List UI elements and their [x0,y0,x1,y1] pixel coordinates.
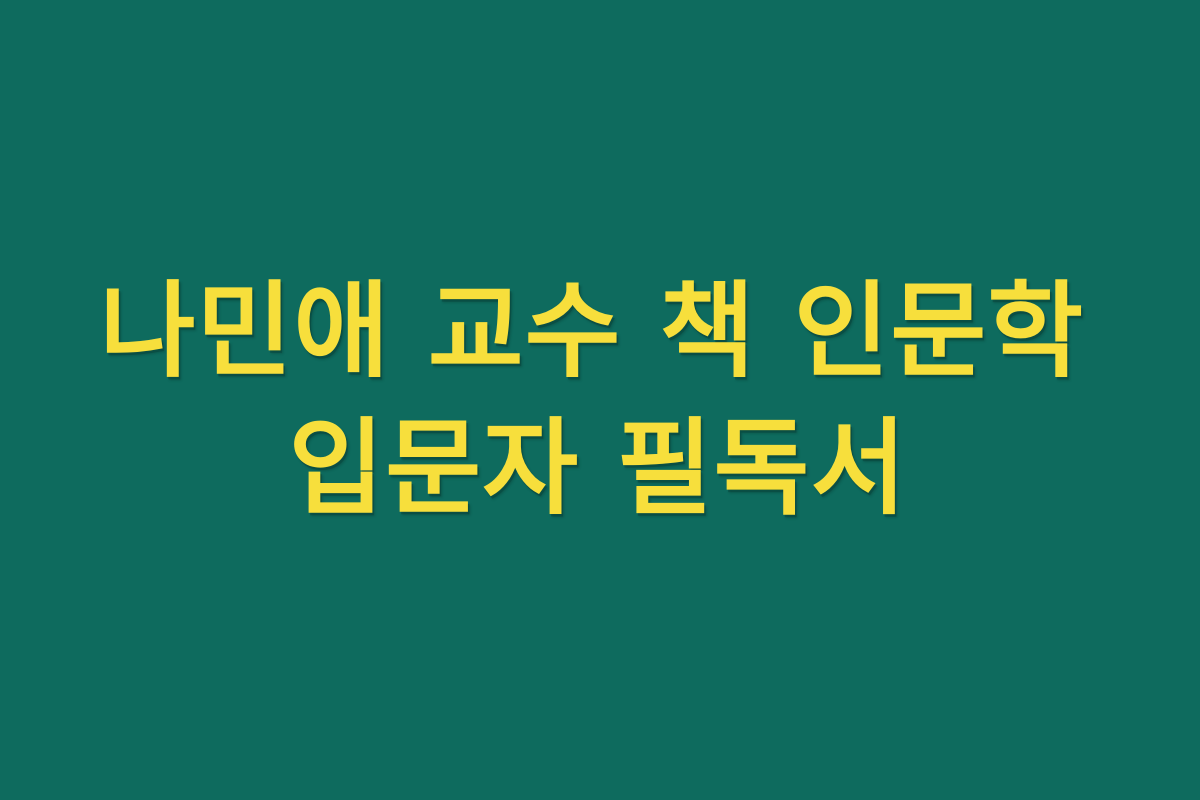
thumbnail-banner: 나민애 교수 책 인문학 입문자 필독서 [0,0,1200,800]
headline-line-1: 나민애 교수 책 인문학 [0,264,1192,399]
headline-line-2: 입문자 필독서 [0,401,1198,536]
